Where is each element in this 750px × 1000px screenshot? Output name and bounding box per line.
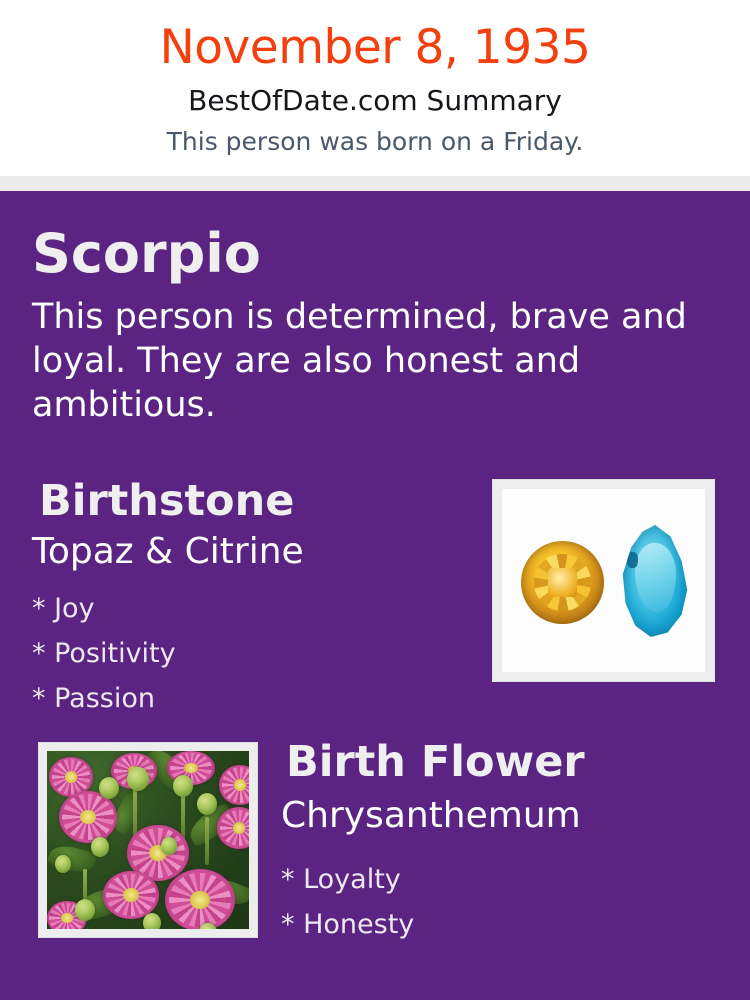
header-divider (0, 176, 750, 191)
list-item: * Honesty (281, 902, 414, 947)
chrysanthemum-bloom (165, 869, 235, 929)
citrine-gem-icon (521, 541, 604, 624)
list-item: * Loyalty (281, 857, 414, 902)
stem-shape (205, 817, 209, 865)
flower-bud (99, 777, 119, 799)
birth-flower-name: Chrysanthemum (281, 797, 581, 835)
leaf-shape (47, 840, 98, 877)
zodiac-description: This person is determined, brave and loy… (32, 295, 704, 427)
birthstone-trait-list: * Joy * Positivity * Passion (32, 586, 176, 721)
flower-bud (91, 837, 109, 857)
flower-bud (55, 855, 71, 873)
birthstone-photo (502, 489, 705, 672)
zodiac-sign-name: Scorpio (32, 226, 261, 283)
page-title: November 8, 1935 (0, 22, 750, 74)
chrysanthemum-bloom (217, 807, 249, 849)
birth-flower-photo (47, 751, 249, 929)
chrysanthemum-bloom (219, 765, 249, 805)
weekday-note: This person was born on a Friday. (0, 128, 750, 156)
birthstone-image-frame (492, 479, 715, 682)
list-item: * Passion (32, 676, 176, 721)
flower-bud (197, 793, 217, 815)
birth-flower-heading: Birth Flower (286, 740, 585, 785)
birth-flower-image-frame (38, 742, 258, 938)
flower-bud (75, 899, 95, 921)
site-subtitle: BestOfDate.com Summary (0, 86, 750, 117)
flower-bud (143, 913, 161, 929)
flower-bud (161, 837, 177, 855)
list-item: * Positivity (32, 631, 176, 676)
flower-bud (173, 775, 193, 797)
flower-bud (127, 767, 149, 791)
list-item: * Joy (32, 586, 176, 631)
topaz-gem-icon (620, 525, 690, 637)
birthstone-heading: Birthstone (39, 479, 294, 524)
header: November 8, 1935 BestOfDate.com Summary … (0, 0, 750, 176)
birth-flower-trait-list: * Loyalty * Honesty (281, 857, 414, 947)
birthstone-name: Topaz & Citrine (32, 533, 304, 571)
summary-card: November 8, 1935 BestOfDate.com Summary … (0, 0, 750, 1000)
chrysanthemum-bloom (103, 871, 159, 919)
